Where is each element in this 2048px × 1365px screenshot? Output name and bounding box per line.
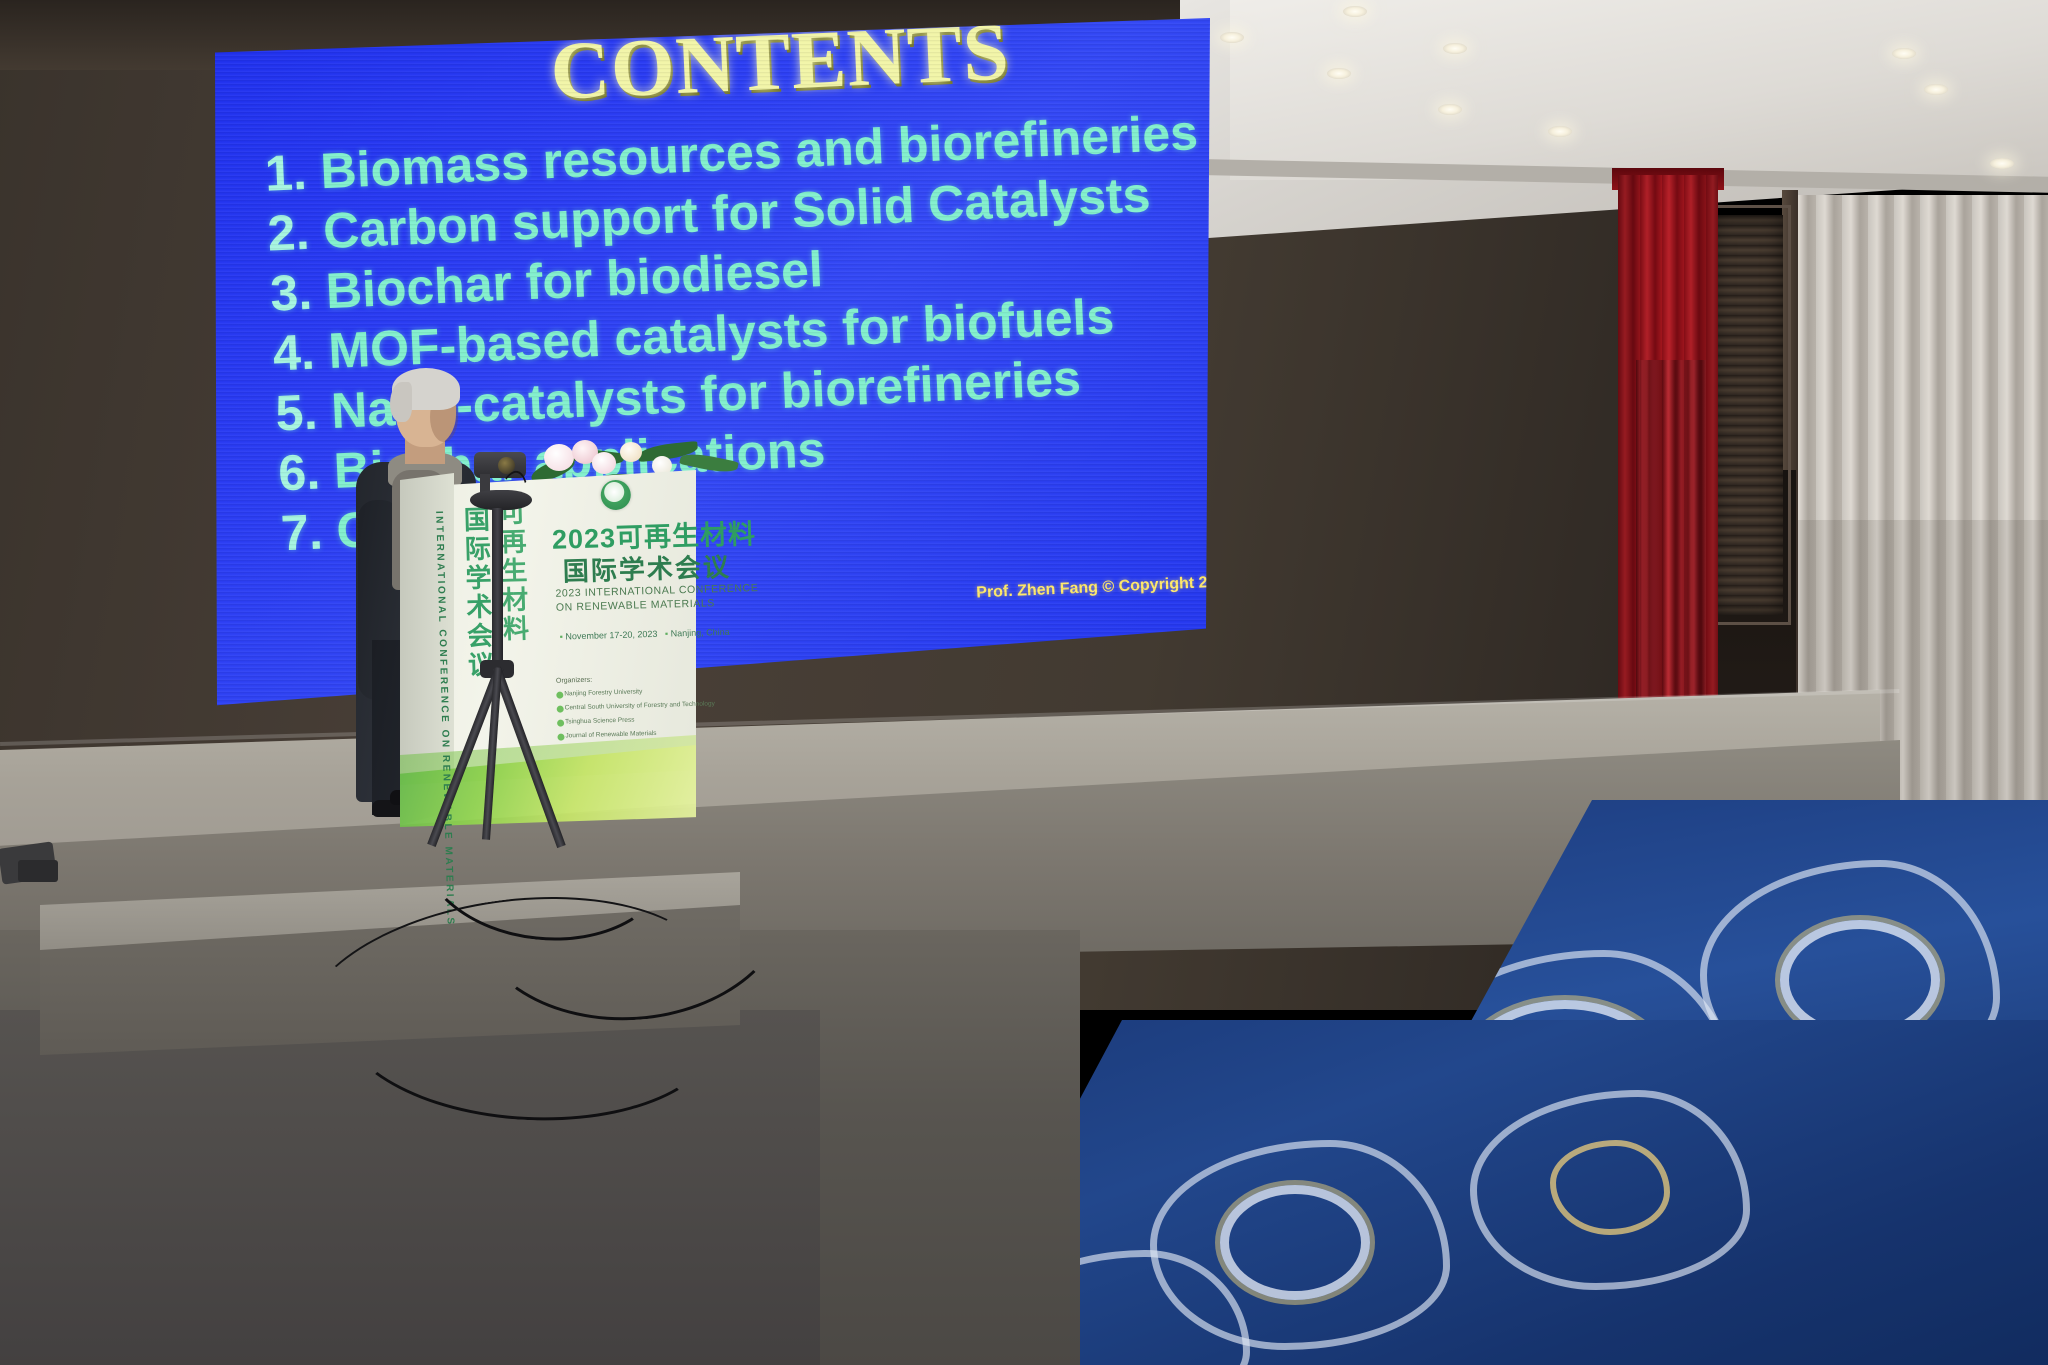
- bullet-icon: ▪: [560, 632, 563, 642]
- slide-copyright: Prof. Zhen Fang © Copyright 2023: [976, 573, 1235, 602]
- ceiling-downlight: [1438, 104, 1462, 115]
- podium-organizer: Nanjing Forestry University: [564, 688, 642, 697]
- ceiling-downlight: [1220, 32, 1244, 43]
- list-item-number: 5.: [274, 384, 318, 442]
- podium-organizer: Tsinghua Science Press: [565, 717, 635, 726]
- organizer-bullet-icon: [557, 706, 564, 713]
- speaker-hair-side: [390, 382, 412, 422]
- podium-date: November 17-20, 2023: [565, 629, 657, 642]
- list-item-number: 6.: [277, 444, 321, 502]
- podium-location: Nanjing, China: [671, 627, 730, 639]
- ceiling-downlight: [1343, 6, 1367, 17]
- podium-organizer: Central South University of Forestry and…: [565, 700, 715, 711]
- podium-title-chinese-2: 国际学术会议: [562, 547, 731, 589]
- floor-equipment-part: [18, 860, 58, 882]
- list-item-number: 4.: [272, 324, 316, 382]
- organizer-bullet-icon: [556, 692, 563, 699]
- carpet-motif: [1550, 1140, 1670, 1235]
- list-item-number: 3.: [269, 264, 313, 322]
- organizer-bullet-icon: [557, 734, 564, 741]
- organizer-bullet-icon: [557, 720, 564, 727]
- flower: [620, 442, 642, 462]
- carpet-front: [930, 1020, 2048, 1365]
- conference-photo-scene: CONTENTS 1. Biomass resources and bioref…: [0, 0, 2048, 1365]
- podium-vertical-english: INTERNATIONAL CONFERENCE ON RENEWABLE MA…: [433, 511, 450, 741]
- ceiling-downlight: [1443, 43, 1467, 54]
- podium-organizer: Journal of Renewable Materials: [565, 730, 656, 740]
- ceiling-downlight: [1548, 126, 1572, 137]
- wood-grille-panel: [1713, 215, 1783, 615]
- list-item-number: 2.: [266, 204, 310, 262]
- ceiling-downlight: [1924, 84, 1948, 95]
- carpet-motif: [1220, 1185, 1370, 1300]
- list-item-number: 1.: [264, 144, 308, 202]
- ceiling-downlight: [1990, 158, 2014, 169]
- conference-logo-icon: [600, 480, 631, 511]
- podium-organizers-label: Organizers:: [556, 677, 592, 685]
- ceiling-downlight: [1892, 48, 1916, 59]
- list-item-number: 7.: [280, 504, 324, 562]
- ceiling-downlight: [1327, 68, 1351, 79]
- podium-title-english-2: ON RENEWABLE MATERIALS: [556, 597, 715, 613]
- slide-title: CONTENTS: [549, 4, 1013, 118]
- bullet-icon: ▪: [665, 629, 668, 639]
